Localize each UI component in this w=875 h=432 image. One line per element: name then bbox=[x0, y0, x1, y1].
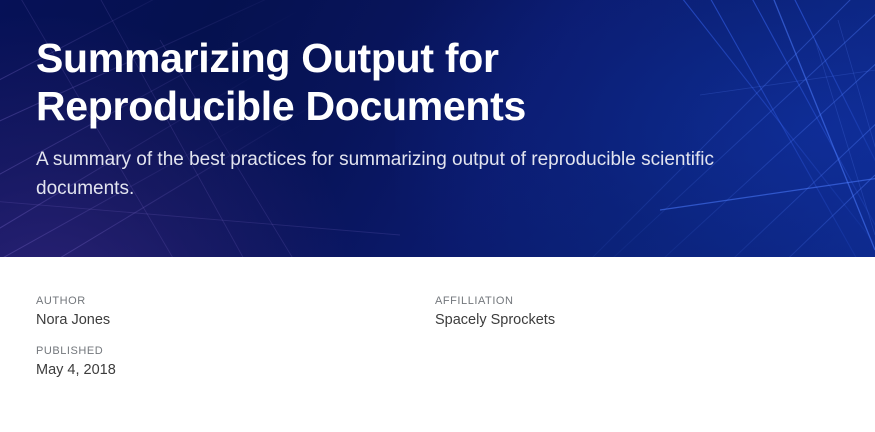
document-banner: Summarizing Output for Reproducible Docu… bbox=[0, 0, 875, 257]
metadata-label-affiliation: AFFILLIATION bbox=[435, 295, 839, 307]
page-subtitle: A summary of the best practices for summ… bbox=[36, 145, 796, 204]
metadata-value-author: Nora Jones bbox=[36, 311, 435, 331]
document-page: Summarizing Output for Reproducible Docu… bbox=[0, 0, 875, 432]
page-title: Summarizing Output for Reproducible Docu… bbox=[36, 34, 736, 131]
metadata-label-author: AUTHOR bbox=[36, 295, 435, 307]
document-metadata: AUTHOR Nora Jones PUBLISHED May 4, 2018 … bbox=[0, 257, 875, 380]
metadata-column-author: AUTHOR Nora Jones PUBLISHED May 4, 2018 bbox=[36, 295, 435, 380]
metadata-value-affiliation: Spacely Sprockets bbox=[435, 311, 839, 331]
banner-content: Summarizing Output for Reproducible Docu… bbox=[0, 0, 875, 204]
metadata-column-affiliation: AFFILLIATION Spacely Sprockets bbox=[435, 295, 839, 331]
metadata-value-published: May 4, 2018 bbox=[36, 361, 435, 381]
metadata-label-published: PUBLISHED bbox=[36, 345, 435, 357]
